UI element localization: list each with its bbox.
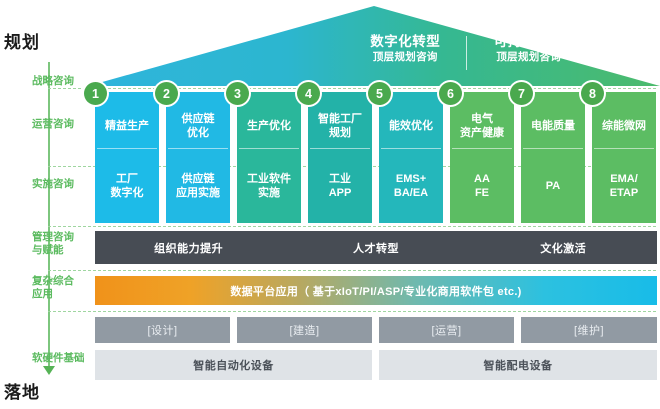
pillar-5-number-badge: 5: [368, 82, 391, 105]
separator-implement: [48, 226, 656, 227]
row-label-complex-app: 复杂综合 应用: [32, 275, 98, 301]
management-segment-talent[interactable]: 人才转型: [282, 231, 469, 264]
pillar-4-bottom-label: 工业 APP: [308, 149, 372, 223]
pillar-6-bottom-label: AA FE: [450, 149, 514, 223]
row-label-management: 管理咨询 与赋能: [32, 231, 98, 257]
pillar-6-number-badge: 6: [439, 82, 462, 105]
pillar-7[interactable]: 7 电能质量 PA: [521, 92, 585, 223]
axis-line: [48, 62, 50, 368]
roof-sub-digital: 顶层规划咨询: [353, 50, 458, 65]
management-segment-org[interactable]: 组织能力提升: [95, 231, 282, 264]
pillar-5[interactable]: 5 能效优化 EMS+ BA/EA: [379, 92, 443, 223]
diagram-canvas: 规划 落地 战略咨询 运营咨询 实施咨询 管理咨询 与赋能 复杂综合 应用 软硬…: [0, 0, 660, 409]
pillar-5-bottom-label: EMS+ BA/EA: [379, 149, 443, 223]
phase-build[interactable]: [建造]: [237, 317, 372, 343]
pillar-7-bottom-label: PA: [521, 149, 585, 223]
phase-design[interactable]: [设计]: [95, 317, 230, 343]
roof-sub-sustain: 顶层规划咨询: [475, 50, 583, 65]
pillar-4-number-badge: 4: [297, 82, 320, 105]
management-bar: 组织能力提升 人才转型 文化激活: [95, 231, 657, 264]
foundation-automation[interactable]: 智能自动化设备: [95, 350, 372, 380]
roof-title-sustain: 可持续发展: [475, 34, 583, 50]
foundation-group: 智能自动化设备 智能配电设备: [95, 350, 657, 380]
separator-management: [48, 270, 656, 271]
pillar-6[interactable]: 6 电气 资产健康 AA FE: [450, 92, 514, 223]
data-platform-bar[interactable]: 数据平台应用（ 基于xIoT/PI/ASP/专业化商用软件包 etc.): [95, 276, 657, 305]
axis-top-label: 规划: [4, 28, 40, 53]
row-label-operations: 运营咨询: [32, 118, 98, 131]
pillar-2-bottom-label: 供应链 应用实施: [166, 149, 230, 223]
pillar-1-number-badge: 1: [84, 82, 107, 105]
pillar-1-bottom-label: 工厂 数字化: [95, 149, 159, 223]
roof-title-digital: 数字化转型: [353, 34, 458, 50]
pillar-1[interactable]: 1 精益生产 工厂 数字化: [95, 92, 159, 223]
pillar-4[interactable]: 4 智能工厂 规划 工业 APP: [308, 92, 372, 223]
pillar-2[interactable]: 2 供应链 优化 供应链 应用实施: [166, 92, 230, 223]
management-segment-culture[interactable]: 文化激活: [470, 231, 657, 264]
axis-arrow-icon: [43, 366, 55, 375]
pillar-2-number-badge: 2: [155, 82, 178, 105]
axis-bottom-label: 落地: [4, 378, 40, 403]
roof-divider: [466, 36, 467, 70]
data-platform-label: 数据平台应用（ 基于xIoT/PI/ASP/专业化商用软件包 etc.): [230, 283, 521, 299]
pillar-7-number-badge: 7: [510, 82, 533, 105]
phase-group: [设计] [建造] [运营] [维护]: [95, 317, 657, 343]
phase-maintain[interactable]: [维护]: [521, 317, 657, 343]
foundation-power[interactable]: 智能配电设备: [379, 350, 657, 380]
roof-block-sustain: 可持续发展 顶层规划咨询: [475, 34, 583, 65]
row-label-implement: 实施咨询: [32, 178, 98, 191]
pillar-8-bottom-label: EMA/ ETAP: [592, 149, 656, 223]
row-label-foundation: 软硬件基础: [32, 352, 98, 365]
pillar-3[interactable]: 3 生产优化 工业软件 实施: [237, 92, 301, 223]
pillar-group: 1 精益生产 工厂 数字化 2 供应链 优化 供应链 应用实施 3 生产优化 工…: [95, 92, 657, 223]
roof-triangle: 数字化转型 顶层规划咨询 可持续发展 顶层规划咨询: [88, 6, 660, 90]
phase-operate[interactable]: [运营]: [379, 317, 514, 343]
pillar-8[interactable]: 8 综能微网 EMA/ ETAP: [592, 92, 656, 223]
pillar-3-number-badge: 3: [226, 82, 249, 105]
roof-block-digital: 数字化转型 顶层规划咨询: [353, 34, 458, 65]
separator-platform: [48, 311, 656, 312]
pillar-3-bottom-label: 工业软件 实施: [237, 149, 301, 223]
roof-text-group: 数字化转型 顶层规划咨询 可持续发展 顶层规划咨询: [353, 34, 583, 70]
pillar-8-number-badge: 8: [581, 82, 604, 105]
